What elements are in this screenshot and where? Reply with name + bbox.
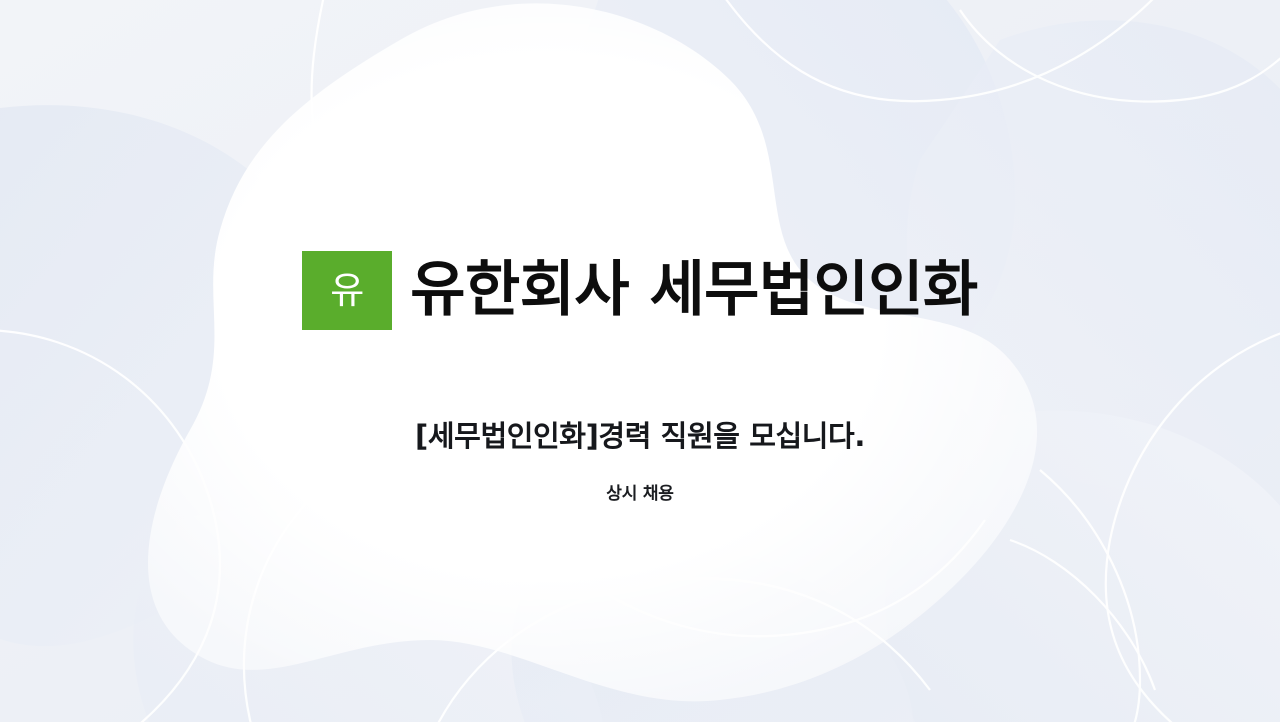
job-posting-banner: 유 유한회사 세무법인인화 [세무법인인화]경력 직원을 모십니다. 상시 채용	[0, 0, 1280, 722]
company-header: 유 유한회사 세무법인인화	[302, 218, 977, 363]
company-logo-glyph: 유	[330, 272, 364, 309]
company-name: 유한회사 세무법인인화	[410, 258, 977, 323]
banner-content: 유 유한회사 세무법인인화 [세무법인인화]경력 직원을 모십니다. 상시 채용	[0, 0, 1280, 722]
company-logo: 유	[302, 251, 392, 330]
job-posting-title: [세무법인인화]경력 직원을 모십니다.	[415, 419, 865, 454]
hiring-period-label: 상시 채용	[606, 484, 673, 504]
